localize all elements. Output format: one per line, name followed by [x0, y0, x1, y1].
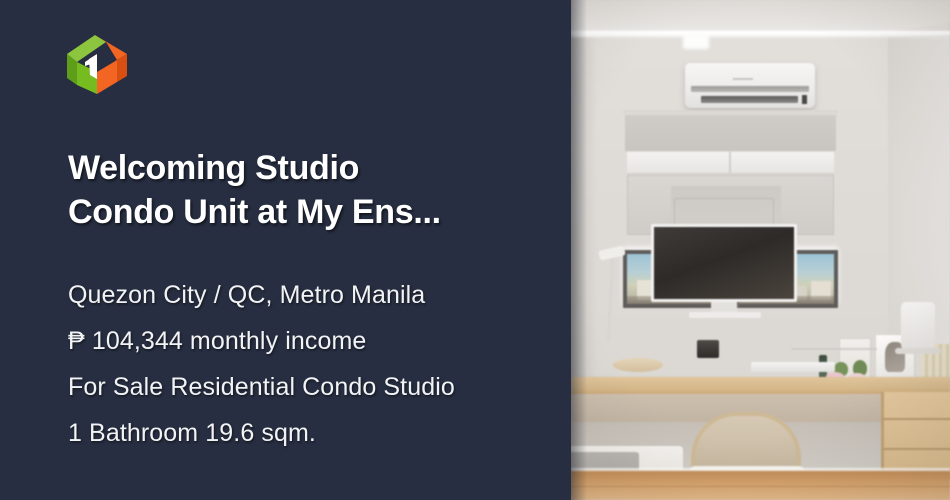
ceiling-lamp	[683, 35, 709, 49]
listing-type: For Sale Residential Condo Studio	[68, 364, 548, 410]
listing-title: Welcoming Studio Condo Unit at My Ens...	[68, 146, 538, 234]
desk-bowl	[613, 358, 663, 372]
desk-cable	[791, 348, 877, 350]
roller-blind-valance	[625, 113, 836, 151]
house-number-one-logo-icon[interactable]	[65, 32, 129, 94]
air-conditioner-vent-upper	[691, 86, 809, 92]
air-conditioner-badge	[733, 78, 753, 80]
air-conditioner-vent-lower	[701, 96, 798, 103]
listing-location: Quezon City / QC, Metro Manila	[68, 272, 548, 318]
property-listing-card: Welcoming Studio Condo Unit at My Ens...…	[0, 0, 950, 500]
wood-floor	[571, 470, 950, 500]
photo-left-edge-shadow	[571, 0, 587, 500]
listing-specs: 1 Bathroom 19.6 sqm.	[68, 410, 548, 456]
drawer-seam	[883, 448, 950, 450]
floor-highlight-line	[571, 468, 950, 471]
drawer-seam	[883, 418, 950, 420]
listing-details: Quezon City / QC, Metro Manila ₱ 104,344…	[68, 272, 548, 456]
smart-speaker-base	[895, 348, 941, 354]
listing-info-panel: Welcoming Studio Condo Unit at My Ens...…	[0, 0, 571, 500]
condo-studio-interior-photo: MY ENSO	[571, 0, 950, 500]
monitor-base	[689, 312, 761, 318]
floor-seam	[571, 486, 950, 487]
listing-income: ₱ 104,344 monthly income	[68, 318, 548, 364]
blind-slat-divider	[729, 152, 731, 174]
computer-monitor	[651, 224, 797, 302]
keyboard	[751, 362, 835, 372]
smart-speaker	[901, 302, 935, 350]
air-conditioner-indicator	[802, 95, 807, 104]
desk-cup	[697, 340, 719, 358]
cove-light-strip	[571, 31, 950, 35]
